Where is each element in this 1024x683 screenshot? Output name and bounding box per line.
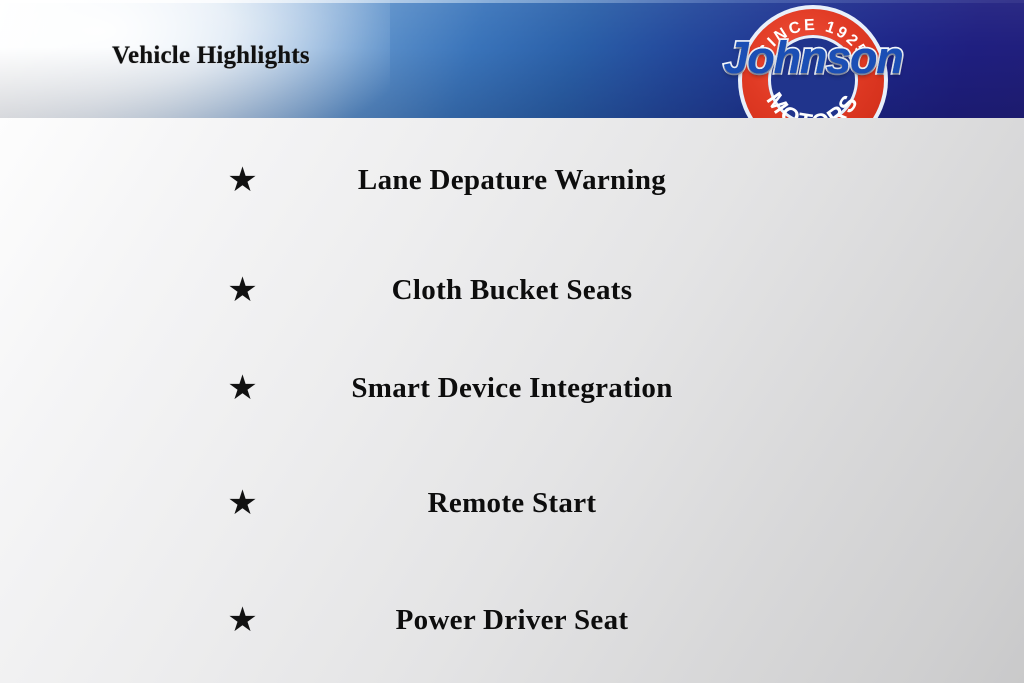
feature-label: Remote Start	[0, 475, 1024, 531]
list-item: ★ Cloth Bucket Seats	[0, 262, 1024, 318]
page-title: Vehicle Highlights	[112, 42, 310, 70]
johnson-motors-logo: SINCE 1925 MOTORS Johnson Johnson	[722, 2, 904, 118]
list-item: ★ Lane Depature Warning	[0, 152, 1024, 208]
vehicle-highlights-slide: Vehicle Highlights SINCE 1925 MOTORS	[0, 0, 1024, 683]
list-item: ★ Power Driver Seat	[0, 592, 1024, 648]
logo-wordmark: Johnson	[722, 35, 904, 80]
feature-label: Power Driver Seat	[0, 592, 1024, 648]
list-item: ★ Remote Start	[0, 475, 1024, 531]
feature-label: Cloth Bucket Seats	[0, 262, 1024, 318]
list-item: ★ Smart Device Integration	[0, 360, 1024, 416]
logo-motors-text: MOTORS	[761, 87, 864, 118]
feature-label: Smart Device Integration	[0, 360, 1024, 416]
feature-label: Lane Depature Warning	[0, 152, 1024, 208]
slide-header: Vehicle Highlights SINCE 1925 MOTORS	[0, 0, 1024, 118]
logo-motors-textpath: MOTORS	[761, 87, 864, 118]
feature-list: ★ Lane Depature Warning ★ Cloth Bucket S…	[0, 118, 1024, 683]
